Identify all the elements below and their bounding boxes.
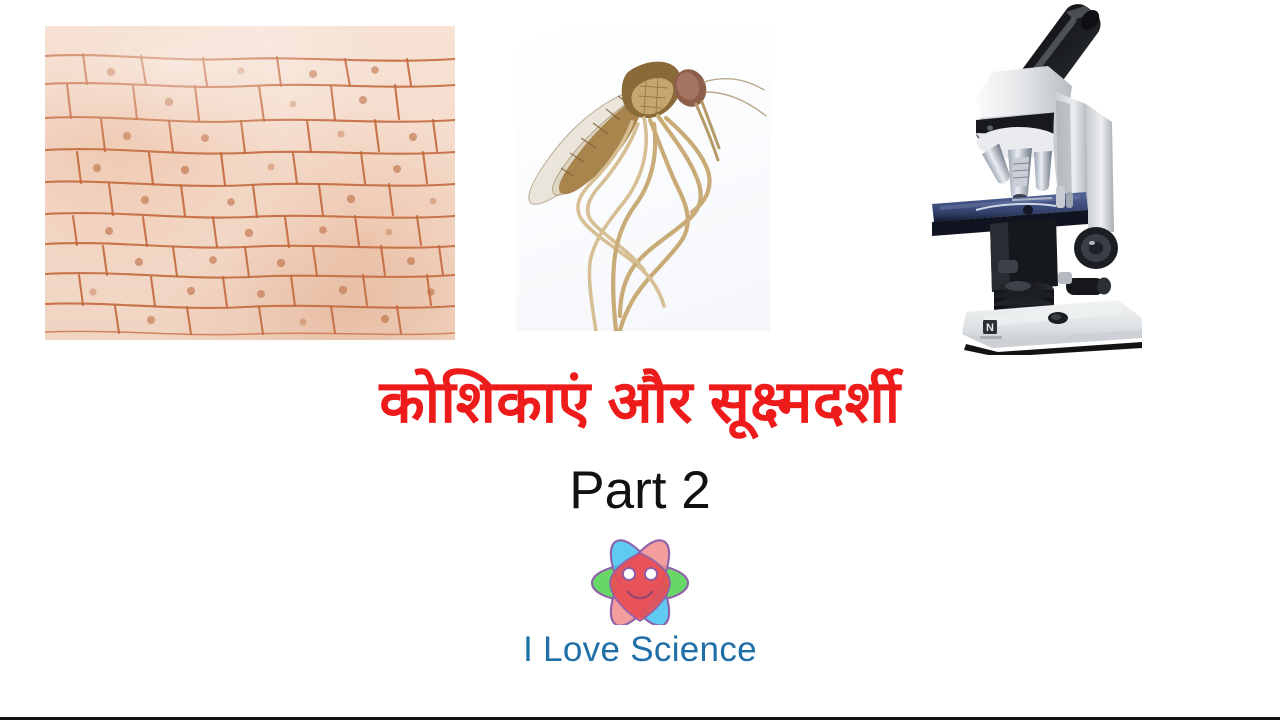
objective-lenses: [981, 143, 1052, 200]
brand-name: I Love Science: [0, 630, 1280, 670]
slide-subtitle-part: Part 2: [0, 462, 1280, 520]
onion-epidermis-micrograph: [45, 26, 455, 340]
svg-text:N: N: [986, 322, 994, 334]
presentation-slide: N कोशिकाएं और सूक्ष्मदर्शी Part 2: [0, 0, 1280, 720]
logo-eye-right: [645, 568, 657, 580]
atom-smiley-logo: [578, 533, 702, 625]
slide-title-hindi: कोशिकाएं और सूक्ष्मदर्शी: [0, 371, 1280, 434]
microscope-base: N: [962, 300, 1142, 355]
compound-microscope-photo: N: [880, 0, 1175, 355]
onion-cell-pattern: [45, 26, 455, 340]
mosquito-specimen-photo: [516, 26, 770, 331]
logo-eye-left: [623, 568, 635, 580]
